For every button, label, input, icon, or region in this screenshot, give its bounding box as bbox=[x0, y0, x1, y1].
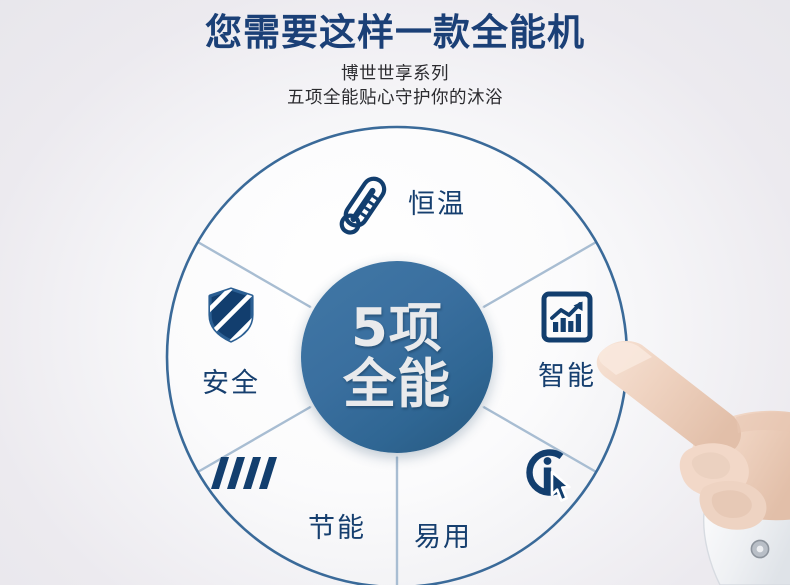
shield-icon bbox=[203, 284, 259, 346]
thermometer-icon bbox=[334, 172, 392, 238]
center-line-2: 全能 bbox=[343, 355, 451, 415]
poster-canvas: 您需要这样一款全能机 博世世享系列 五项全能贴心守护你的沐浴 bbox=[0, 0, 790, 585]
wheel-label-thermostatic: 恒温 bbox=[408, 189, 466, 221]
feature-wheel: 5项 全能 bbox=[162, 122, 632, 585]
wheel-label-energy-saving: 节能 bbox=[308, 513, 370, 545]
page-title: 您需要这样一款全能机 bbox=[0, 0, 790, 56]
wheel-segment-safety[interactable]: 安全 bbox=[166, 262, 296, 422]
subtitle-line-2: 五项全能贴心守护你的沐浴 bbox=[0, 86, 790, 110]
info-cursor-icon bbox=[516, 444, 576, 506]
subtitle-line-1: 博世世享系列 bbox=[0, 56, 790, 86]
wheel-segment-energy-saving[interactable]: 节能 bbox=[210, 430, 370, 570]
wheel-segment-thermostatic[interactable]: 恒温 bbox=[300, 170, 500, 240]
bar-chart-icon bbox=[541, 291, 593, 343]
wheel-label-smart: 智能 bbox=[538, 361, 596, 393]
wheel-label-easy-to-use: 易用 bbox=[406, 522, 472, 554]
energy-bars-icon bbox=[210, 455, 282, 491]
wheel-segment-easy-to-use[interactable]: 易用 bbox=[406, 424, 576, 574]
wheel-label-safety: 安全 bbox=[202, 368, 260, 400]
wheel-segment-smart[interactable]: 智能 bbox=[502, 262, 632, 422]
header-block: 您需要这样一款全能机 博世世享系列 五项全能贴心守护你的沐浴 bbox=[0, 0, 790, 110]
center-line-1: 5项 bbox=[351, 299, 443, 359]
